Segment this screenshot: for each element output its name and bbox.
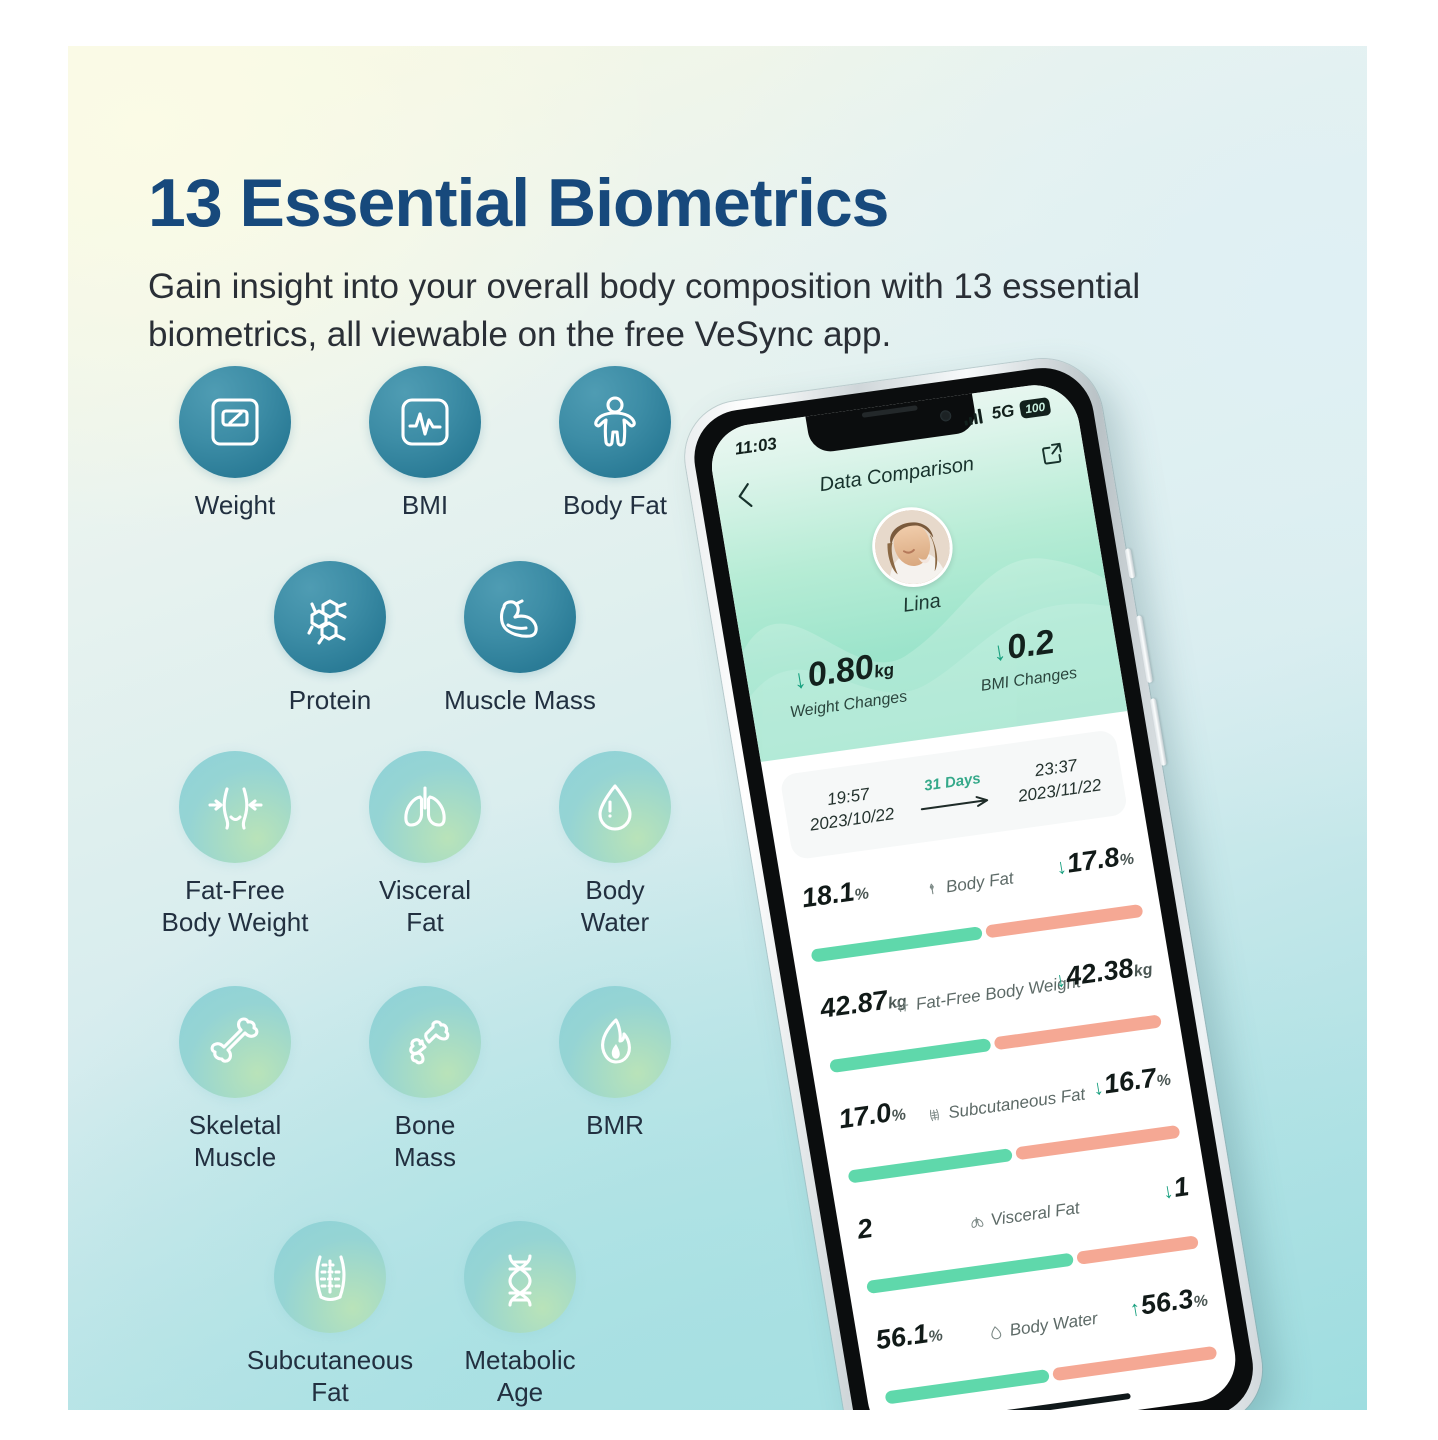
trend-arrow-icon: ↓	[1161, 1179, 1175, 1203]
biometric-item-metabolic-age: Metabolic Age	[435, 1221, 605, 1408]
biometric-item-fat-free-body-weight: Fat-Free Body Weight	[150, 751, 320, 938]
water-drop-icon	[559, 751, 671, 863]
promo-card-background: 13 Essential Biometrics Gain insight int…	[68, 46, 1367, 1410]
phone-frame: 11:03 5G 100	[676, 352, 1270, 1410]
metric-name: Body Fat	[923, 868, 1016, 900]
date-range-start: 19:57 2023/10/22	[804, 781, 896, 838]
trend-arrow-icon: ↓	[1054, 855, 1068, 879]
date-range-duration: 31 Days	[914, 769, 994, 821]
torso-ribs-icon	[274, 1221, 386, 1333]
metric-name: Subcutaneous Fat	[925, 1085, 1087, 1127]
phone-bezel: 11:03 5G 100	[687, 362, 1261, 1410]
pulse-chart-icon	[369, 366, 481, 478]
promo-image-root: 13 Essential Biometrics Gain insight int…	[0, 0, 1438, 1440]
metric-after-value: ↓1	[1160, 1171, 1191, 1205]
waist-arrows-icon	[179, 751, 291, 863]
metric-name: Fat-Free Body Weight	[893, 972, 1083, 1018]
bone-fragments-icon	[369, 986, 481, 1098]
metric-bar-before	[810, 926, 982, 962]
volume-down-button[interactable]	[1150, 698, 1167, 766]
metric-bar-after	[1052, 1346, 1218, 1382]
biometric-item-subcutaneous-fat: Subcutaneous Fat	[245, 1221, 415, 1408]
trend-arrow-icon: ↑	[1128, 1297, 1142, 1321]
flame-icon	[559, 986, 671, 1098]
flexed-bicep-icon	[464, 561, 576, 673]
volume-up-button[interactable]	[1136, 615, 1153, 683]
mute-switch[interactable]	[1125, 548, 1136, 578]
metric-bar-after	[993, 1014, 1162, 1050]
biometric-label: Metabolic Age	[435, 1345, 605, 1408]
metric-after-value: ↑56.3%	[1127, 1282, 1210, 1323]
cellular-bars-icon	[963, 407, 987, 425]
biometric-label: Subcutaneous Fat	[245, 1345, 415, 1408]
lungs-icon	[369, 751, 481, 863]
page-subtitle: Gain insight into your overall body comp…	[148, 263, 1278, 359]
subcutaneous-icon	[925, 1106, 943, 1124]
battery-indicator: 100	[1019, 397, 1052, 419]
biometric-item-weight: Weight	[150, 366, 320, 522]
metric-after-value: ↓17.8%	[1053, 840, 1136, 881]
biometric-item-skeletal-muscle: Skeletal Muscle	[150, 986, 320, 1173]
share-export-icon[interactable]	[1039, 440, 1066, 466]
biometric-label: Fat-Free Body Weight	[150, 875, 320, 938]
network-label: 5G	[990, 401, 1016, 424]
page-title: 13 Essential Biometrics	[148, 164, 888, 242]
biometric-item-protein: Protein	[245, 561, 415, 717]
metric-bar-after	[984, 904, 1143, 939]
fat-free-icon	[893, 998, 911, 1016]
right-arrow-icon	[918, 793, 993, 815]
molecule-icon	[274, 561, 386, 673]
metric-after-value: ↓42.38kg	[1052, 950, 1154, 994]
biometric-label: Visceral Fat	[340, 875, 510, 938]
metric-before-value: 17.0%	[836, 1095, 907, 1135]
date-range-end: 23:37 2023/11/22	[1013, 752, 1104, 809]
metric-before-value: 2	[855, 1213, 875, 1246]
biometrics-icon-grid: WeightBMIBody FatProteinMuscle MassFat-F…	[140, 366, 710, 1366]
phone-mockup: 11:03 5G 100	[668, 346, 1367, 1410]
metric-bar-before	[866, 1253, 1074, 1294]
metric-comparison-list: 18.1%Body Fat↓17.8%42.87kgFat-Free Body …	[780, 825, 1242, 1410]
trend-arrow-icon: ↓	[1091, 1076, 1105, 1100]
metric-before-value: 56.1%	[873, 1316, 944, 1356]
body-fat-icon	[923, 881, 941, 899]
metric-bar-after	[1015, 1125, 1181, 1161]
metric-after-value: ↓16.7%	[1090, 1061, 1173, 1102]
metric-bar-before	[829, 1038, 991, 1073]
metric-before-value: 18.1%	[799, 875, 870, 915]
metric-name: Visceral Fat	[967, 1198, 1081, 1233]
status-time: 11:03	[733, 434, 778, 460]
body-water-icon	[987, 1324, 1005, 1342]
biometric-item-bone-mass: Bone Mass	[340, 986, 510, 1173]
biometric-label: Skeletal Muscle	[150, 1110, 320, 1173]
biometric-label: Protein	[245, 685, 415, 717]
biometric-label: Muscle Mass	[435, 685, 605, 717]
scale-icon	[179, 366, 291, 478]
biometric-item-visceral-fat: Visceral Fat	[340, 751, 510, 938]
biometric-item-muscle-mass: Muscle Mass	[435, 561, 605, 717]
visceral-icon	[968, 1213, 986, 1231]
metric-bar-before	[884, 1369, 1050, 1405]
biometric-label: Weight	[150, 490, 320, 522]
biometric-label: Bone Mass	[340, 1110, 510, 1173]
metric-bar-before	[847, 1148, 1013, 1184]
dna-helix-icon	[464, 1221, 576, 1333]
biometric-item-bmi: BMI	[340, 366, 510, 522]
phone-screen: 11:03 5G 100	[705, 380, 1242, 1410]
body-figure-icon	[559, 366, 671, 478]
biometric-label: BMI	[340, 490, 510, 522]
bone-icon	[179, 986, 291, 1098]
chevron-left-icon[interactable]	[735, 482, 755, 510]
metric-bar-after	[1076, 1235, 1199, 1265]
metric-name: Body Water	[986, 1309, 1099, 1344]
